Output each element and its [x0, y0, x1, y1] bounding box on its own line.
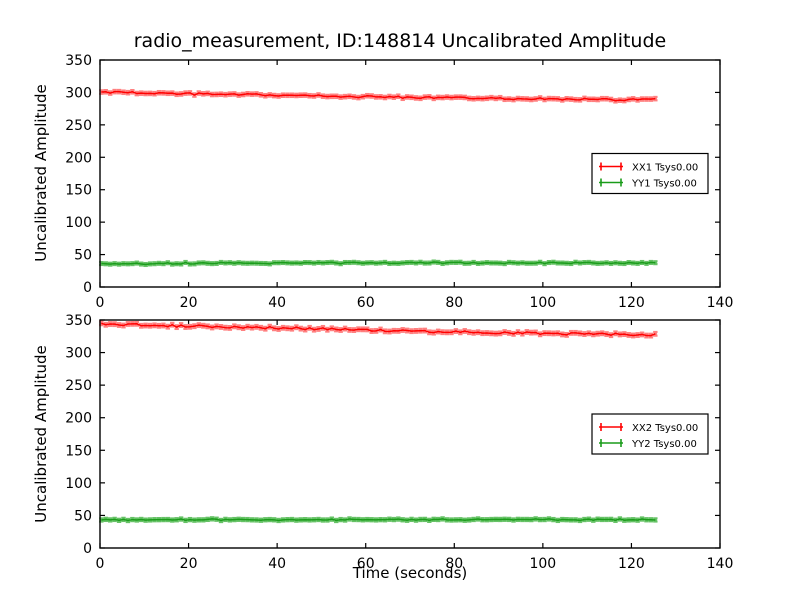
bottom-panel-legend[interactable]: XX2 Tsys0.00YY2 Tsys0.00 [592, 414, 708, 454]
top-panel-legend[interactable]: XX1 Tsys0.00YY1 Tsys0.00 [592, 154, 708, 194]
y-tick-label: 50 [74, 248, 92, 264]
x-tick-label: 100 [529, 295, 556, 311]
top-panel-data-series [99, 90, 657, 266]
y-tick-label: 0 [83, 541, 92, 557]
x-tick-label: 60 [357, 295, 375, 311]
bottom-panel-ylabel: Uncalibrated Amplitude [32, 345, 50, 522]
data-series-xx [99, 90, 657, 103]
x-tick-label: 0 [96, 295, 105, 311]
x-tick-label: 40 [268, 295, 286, 311]
legend-entry-label: YY1 Tsys0.00 [631, 179, 697, 190]
data-series-yy [99, 517, 657, 522]
data-series-xx [99, 322, 657, 338]
y-tick-label: 100 [65, 476, 92, 492]
data-series-yy [99, 261, 657, 266]
top-plot-panel: 050100150200250300350020406080100120140 … [32, 53, 733, 311]
figure-title: radio_measurement, ID:148814 Uncalibrate… [134, 30, 666, 52]
y-tick-label: 0 [83, 280, 92, 296]
y-tick-label: 200 [65, 150, 92, 166]
bottom-panel-data-series [99, 322, 657, 523]
y-tick-label: 300 [65, 346, 92, 362]
legend-entry-label: XX2 Tsys0.00 [632, 423, 698, 434]
matplotlib-figure: radio_measurement, ID:148814 Uncalibrate… [0, 0, 800, 600]
x-tick-label: 80 [445, 295, 463, 311]
y-tick-label: 200 [65, 411, 92, 427]
legend-entry-label: XX1 Tsys0.00 [632, 163, 698, 174]
y-tick-label: 100 [65, 215, 92, 231]
legend-entry-label: YY2 Tsys0.00 [631, 439, 697, 450]
x-tick-label: 20 [180, 556, 198, 572]
x-tick-label: 20 [180, 295, 198, 311]
x-tick-label: 140 [707, 556, 734, 572]
x-tick-label: 40 [268, 556, 286, 572]
x-tick-label: 100 [529, 556, 556, 572]
x-tick-label: 120 [618, 556, 645, 572]
y-tick-label: 150 [65, 443, 92, 459]
x-tick-label: 120 [618, 295, 645, 311]
y-tick-label: 300 [65, 85, 92, 101]
bottom-panel-xlabel: Time (seconds) [352, 564, 468, 582]
x-tick-label: 0 [96, 556, 105, 572]
x-tick-label: 140 [707, 295, 734, 311]
y-tick-label: 250 [65, 118, 92, 134]
y-tick-label: 150 [65, 183, 92, 199]
y-tick-label: 350 [65, 313, 92, 329]
y-tick-label: 350 [65, 53, 92, 69]
plot-canvas: radio_measurement, ID:148814 Uncalibrate… [0, 0, 800, 600]
y-tick-label: 250 [65, 378, 92, 394]
bottom-plot-panel: 050100150200250300350020406080100120140 … [32, 313, 733, 582]
top-panel-ylabel: Uncalibrated Amplitude [32, 84, 50, 261]
y-tick-label: 50 [74, 508, 92, 524]
